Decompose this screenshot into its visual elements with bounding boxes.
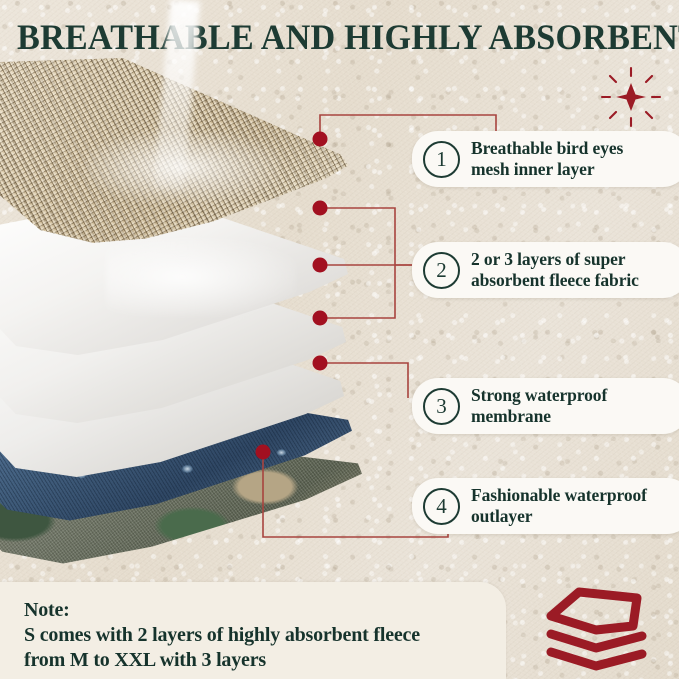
note-line-1: S comes with 2 layers of highly absorben… — [24, 623, 506, 648]
callout-3-number: 3 — [423, 388, 460, 425]
callout-3-label: Strong waterproof membrane — [471, 385, 607, 427]
callout-3[interactable]: 3 Strong waterproof membrane — [412, 378, 679, 434]
stacked-layers-icon — [541, 584, 657, 676]
callout-3-line-1: Strong waterproof — [471, 385, 607, 406]
callout-1-number: 1 — [423, 141, 460, 178]
sparkle-star-icon — [600, 66, 662, 128]
water-splash-spray — [106, 238, 296, 316]
callout-1-line-1: Breathable bird eyes — [471, 138, 623, 159]
callout-3-line-2: membrane — [471, 406, 607, 427]
callout-4-label: Fashionable waterproof outlayer — [471, 485, 647, 527]
callout-2-number: 2 — [423, 252, 460, 289]
note-line-2: from M to XXL with 3 layers — [24, 648, 506, 673]
callout-1-line-2: mesh inner layer — [471, 159, 623, 180]
fabric-layer-stack-illustration — [0, 58, 406, 538]
note-panel: Note: S comes with 2 layers of highly ab… — [0, 582, 506, 679]
infographic-page: BREATHABLE AND HIGHLY ABSORBENT — [0, 0, 679, 679]
page-title: BREATHABLE AND HIGHLY ABSORBENT — [17, 16, 662, 58]
note-label: Note: — [24, 598, 506, 623]
callout-2-line-2: absorbent fleece fabric — [471, 270, 639, 291]
callout-2-line-1: 2 or 3 layers of super — [471, 249, 639, 270]
callout-1[interactable]: 1 Breathable bird eyes mesh inner layer — [412, 131, 679, 187]
callout-4[interactable]: 4 Fashionable waterproof outlayer — [412, 478, 679, 534]
callout-4-line-1: Fashionable waterproof — [471, 485, 647, 506]
callout-2[interactable]: 2 2 or 3 layers of super absorbent fleec… — [412, 242, 679, 298]
callout-2-label: 2 or 3 layers of super absorbent fleece … — [471, 249, 639, 291]
callout-1-label: Breathable bird eyes mesh inner layer — [471, 138, 623, 180]
callout-4-number: 4 — [423, 488, 460, 525]
callout-4-line-2: outlayer — [471, 506, 647, 527]
